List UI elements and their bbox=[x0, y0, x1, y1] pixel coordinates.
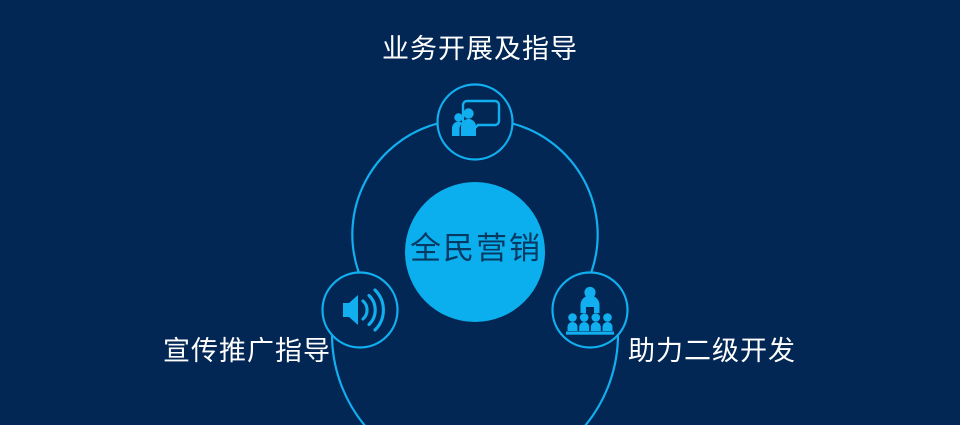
node-top-label: 业务开展及指导 bbox=[0, 36, 960, 63]
ring-arc-bottom bbox=[332, 335, 618, 425]
center-hub-label: 全民营销 bbox=[406, 233, 546, 264]
diagram-canvas: 全民营销 业务开展及指导 宣传推广指导 助力二级开发 bbox=[0, 0, 960, 425]
node-bottom-right[interactable] bbox=[553, 273, 628, 348]
node-bottom-right-circle[interactable] bbox=[553, 273, 628, 348]
node-bottom-right-label: 助力二级开发 bbox=[628, 338, 796, 365]
node-bottom-left-circle[interactable] bbox=[323, 273, 398, 348]
node-top-circle[interactable] bbox=[438, 85, 513, 160]
node-bottom-left[interactable] bbox=[323, 273, 398, 348]
node-top[interactable] bbox=[438, 85, 513, 160]
node-bottom-left-label: 宣传推广指导 bbox=[163, 338, 331, 365]
